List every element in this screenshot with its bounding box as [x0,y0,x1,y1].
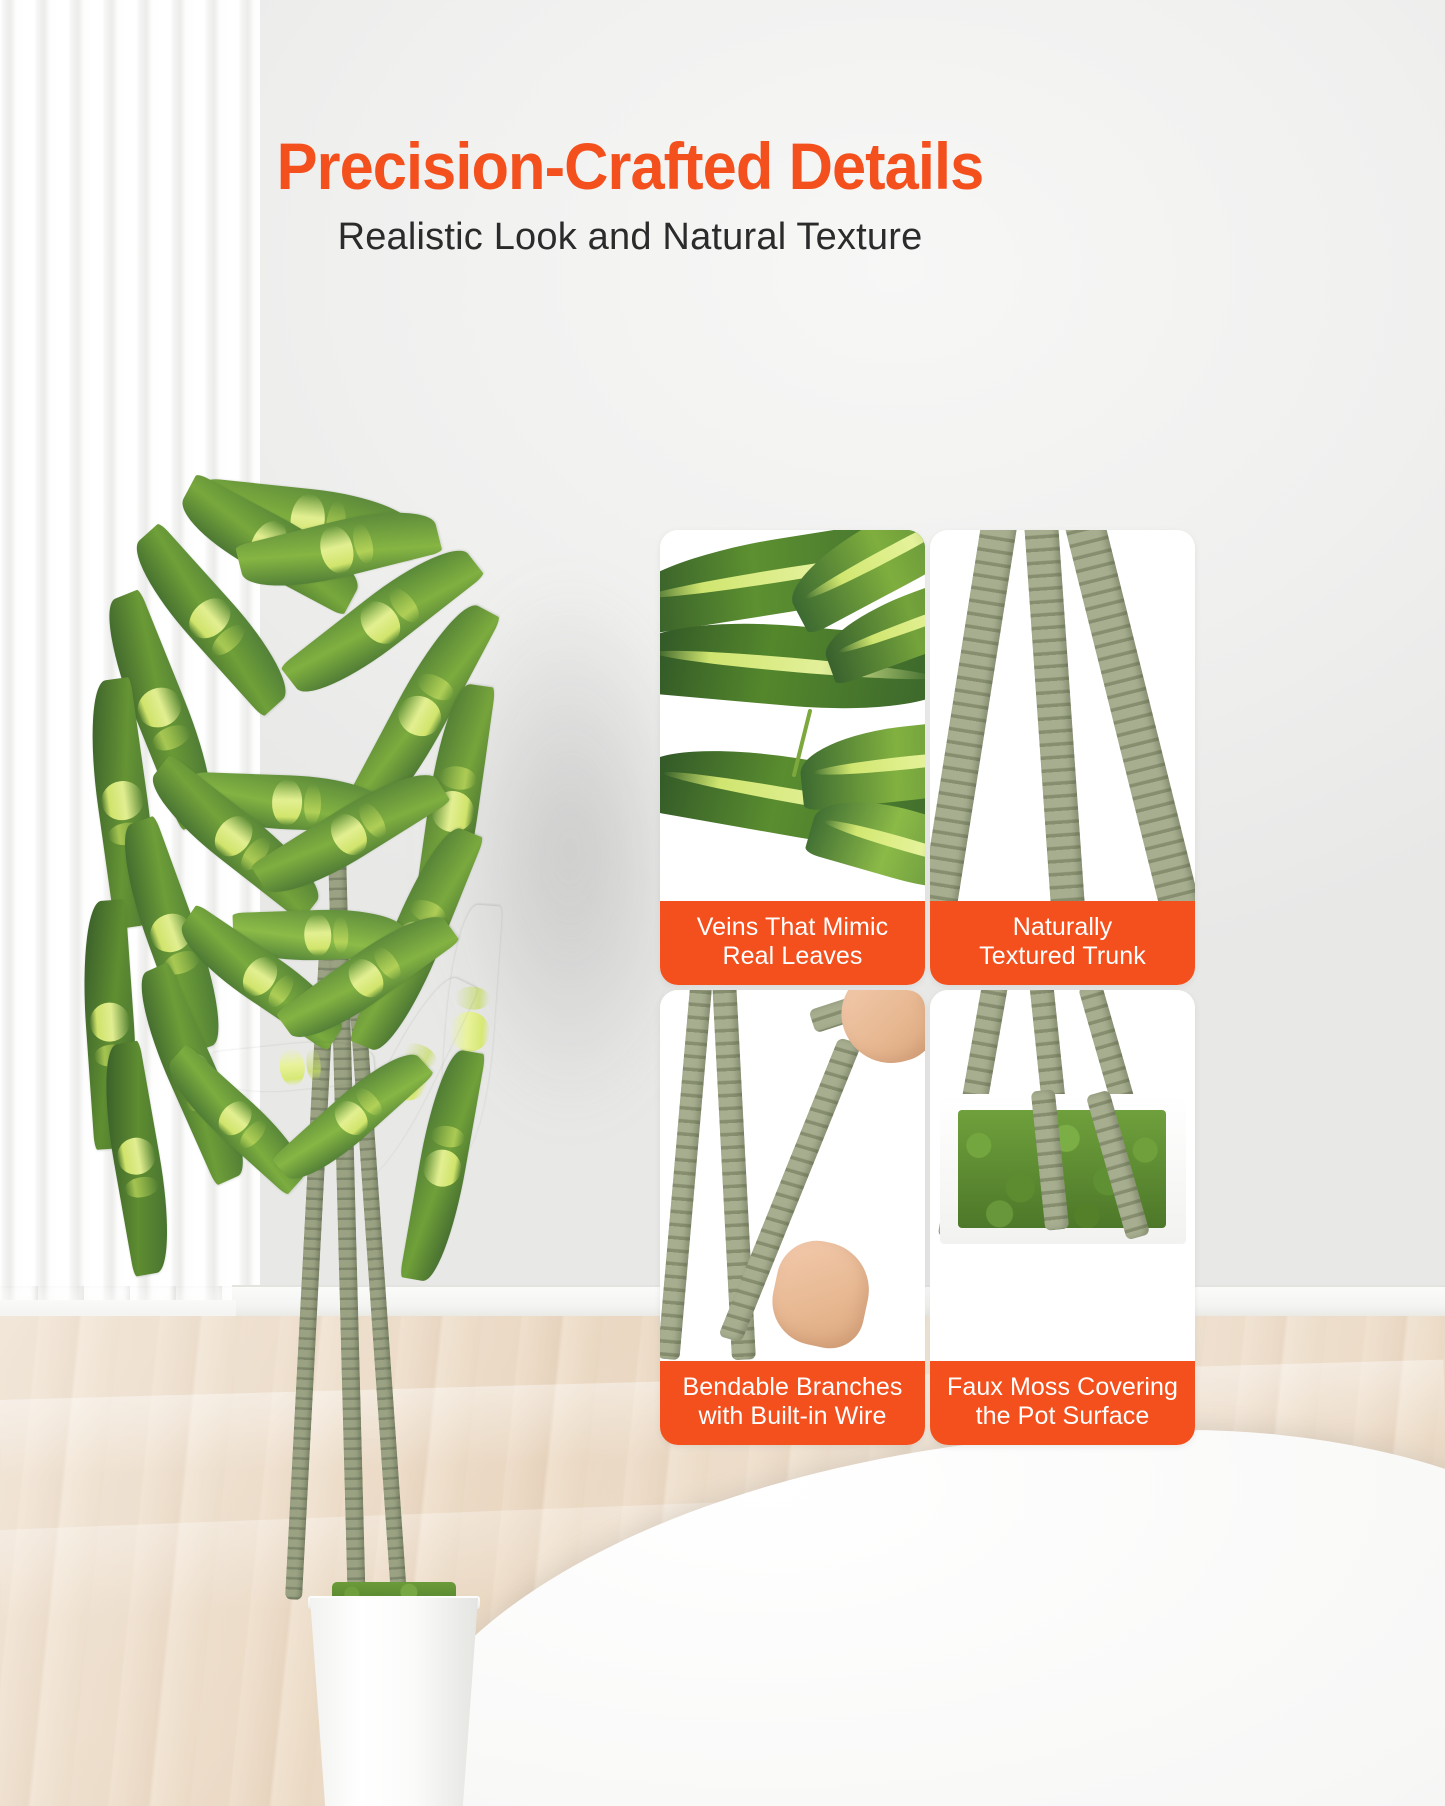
caption-line-2: Textured Trunk [936,942,1189,971]
caption-line-1: Veins That Mimic [666,913,919,942]
feature-caption-bendable: Bendable Branches with Built-in Wire [660,1361,925,1445]
feature-grid: Veins That Mimic Real Leaves Naturally T… [660,530,1195,1465]
hand-lower [764,1233,878,1354]
caption-line-1: Faux Moss Covering [936,1373,1189,1402]
feature-card-moss[interactable]: Faux Moss Covering the Pot Surface [930,990,1195,1445]
trunk-closeup-image [930,530,1195,901]
artificial-plant [40,430,680,1360]
feature-card-bendable[interactable]: Bendable Branches with Built-in Wire [660,990,925,1445]
caption-line-2: Real Leaves [666,942,919,971]
feature-card-trunk[interactable]: Naturally Textured Trunk [930,530,1195,985]
white-tapered-planter [310,1598,478,1806]
leaf-closeup-image [660,530,925,901]
caption-line-2: the Pot Surface [936,1402,1189,1431]
feature-caption-moss: Faux Moss Covering the Pot Surface [930,1361,1195,1445]
feature-caption-trunk: Naturally Textured Trunk [930,901,1195,985]
caption-line-1: Bendable Branches [666,1373,919,1402]
feature-caption-veins: Veins That Mimic Real Leaves [660,901,925,985]
caption-line-2: with Built-in Wire [666,1402,919,1431]
moss-on-pot-image [930,990,1195,1361]
page-title: Precision-Crafted Details [44,128,1216,204]
hands-bending-branch-image [660,990,925,1361]
page-subtitle: Realistic Look and Natural Texture [0,216,1260,259]
product-feature-infographic: Precision-Crafted Details Realistic Look… [0,0,1445,1806]
caption-line-1: Naturally [936,913,1189,942]
feature-card-veins[interactable]: Veins That Mimic Real Leaves [660,530,925,985]
